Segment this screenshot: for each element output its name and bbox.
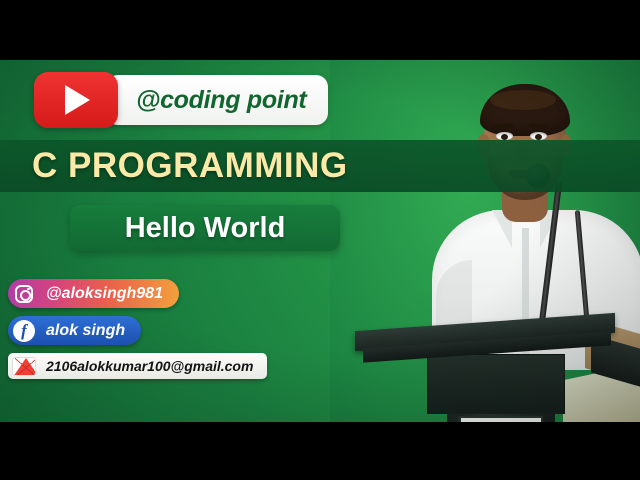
social-badge-facebook[interactable]: f alok singh	[8, 316, 141, 345]
channel-handle-label: @coding point	[136, 86, 306, 115]
social-badge-list: @aloksingh981 f alok singh 2106alokkumar…	[8, 279, 267, 387]
gmail-address-label: 2106alokkumar100@gmail.com	[46, 358, 253, 374]
video-stage: @coding point C PROGRAMMING Hello World …	[0, 60, 640, 422]
letterbox-bar-bottom	[0, 422, 640, 480]
instagram-icon	[12, 282, 36, 306]
youtube-play-icon[interactable]	[34, 72, 118, 128]
facebook-icon: f	[12, 319, 36, 343]
social-badge-instagram[interactable]: @aloksingh981	[8, 279, 179, 308]
title-band: C PROGRAMMING	[0, 140, 640, 192]
video-frame: @coding point C PROGRAMMING Hello World …	[0, 0, 640, 480]
letterbox-bar-top	[0, 0, 640, 60]
thumbnail-overlay: @coding point C PROGRAMMING Hello World …	[0, 60, 640, 422]
page-title: C PROGRAMMING	[32, 146, 348, 186]
social-badge-gmail[interactable]: 2106alokkumar100@gmail.com	[8, 353, 267, 379]
subtitle-pill: Hello World	[70, 205, 340, 251]
channel-branding-row: @coding point	[34, 72, 328, 128]
subtitle-label: Hello World	[125, 212, 286, 245]
channel-handle-pill[interactable]: @coding point	[106, 75, 328, 125]
facebook-handle-label: alok singh	[46, 322, 125, 340]
instagram-handle-label: @aloksingh981	[46, 285, 163, 303]
gmail-icon	[12, 354, 36, 378]
